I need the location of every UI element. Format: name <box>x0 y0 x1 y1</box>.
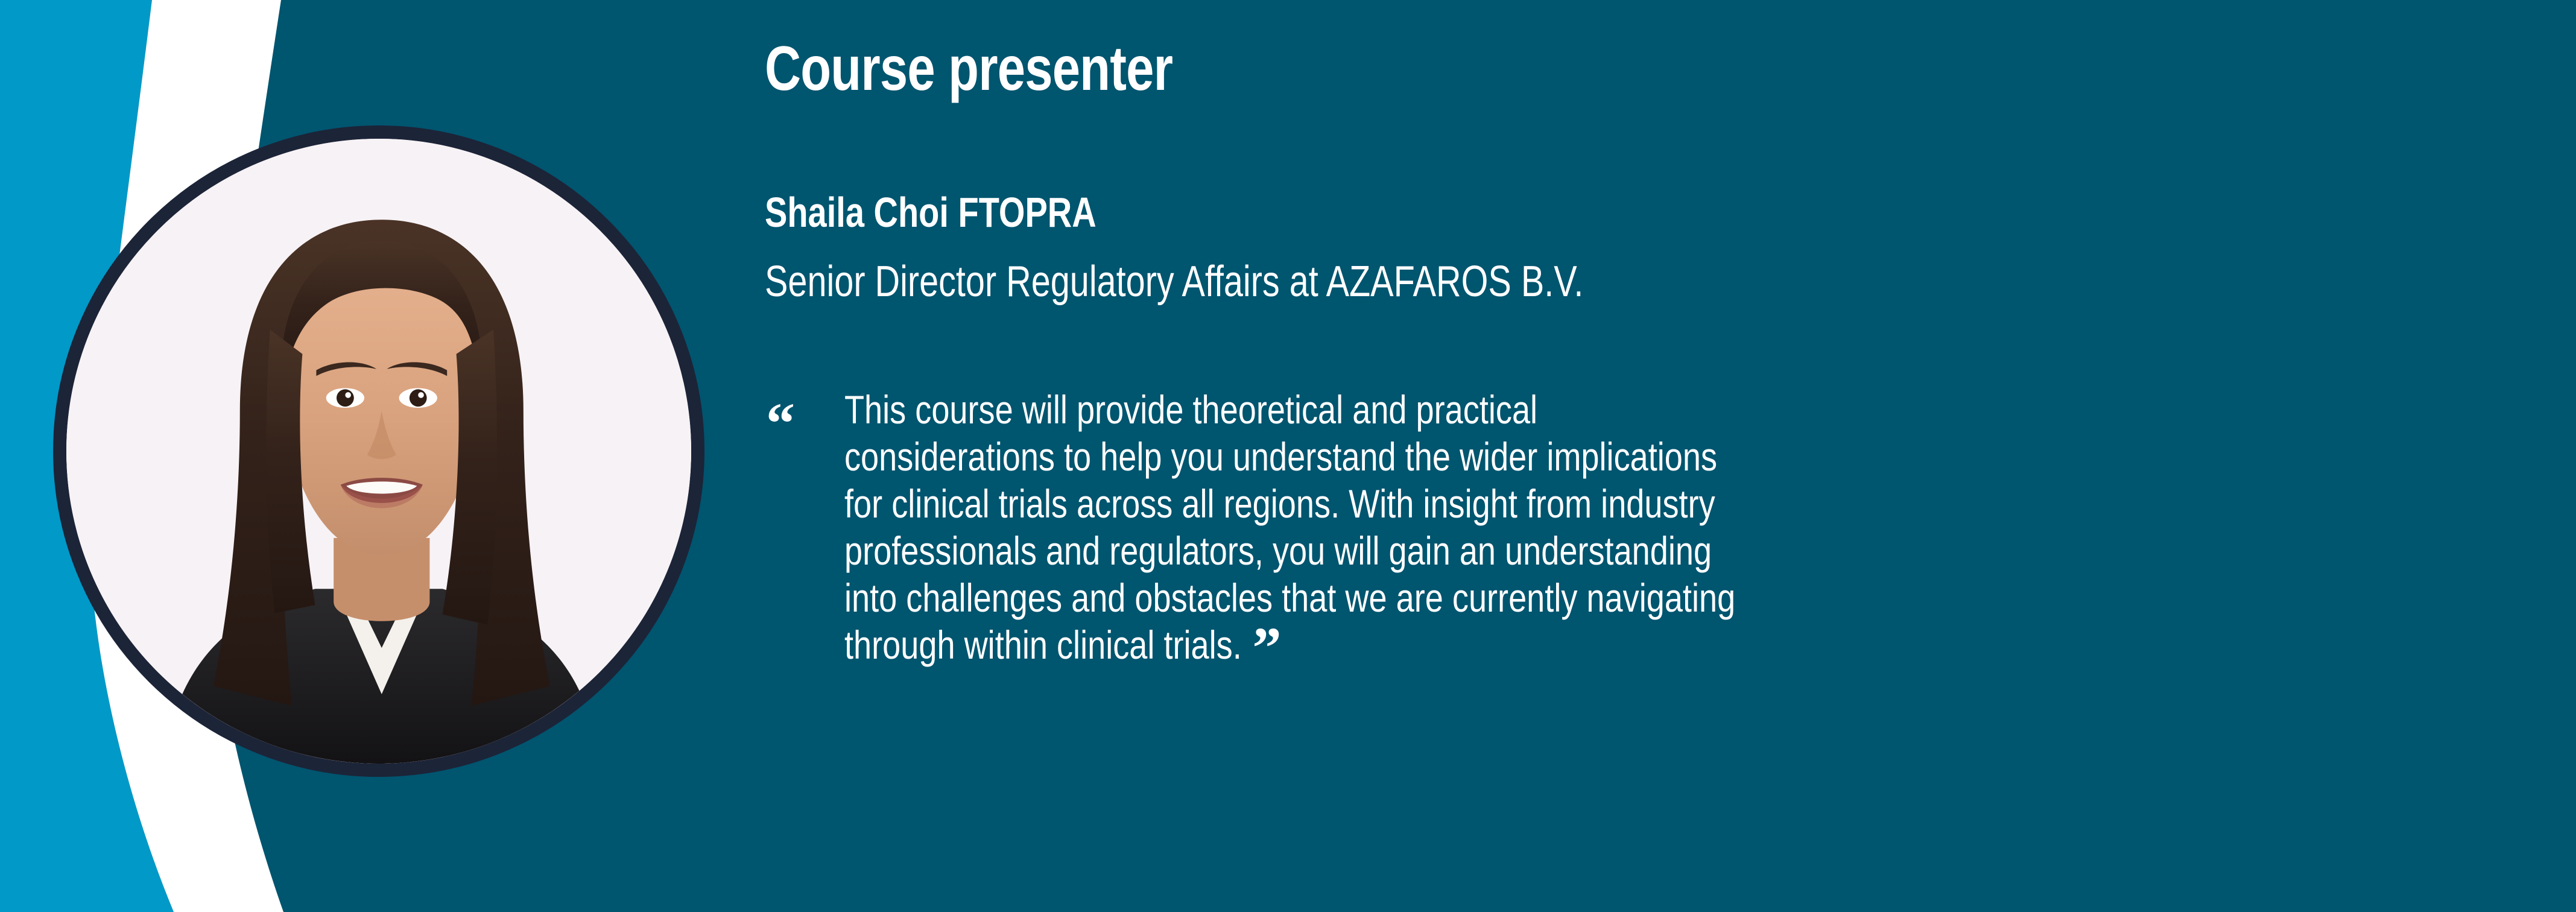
quote-line: professionals and regulators, you will g… <box>844 527 2110 574</box>
quote-text: This course will provide theoretical and… <box>844 386 2388 668</box>
quote-line: This course will provide theoretical and… <box>844 386 2110 433</box>
quote-line-final: through within clinical trials.” <box>844 621 2110 668</box>
quote-line-final-text: through within clinical trials. <box>844 622 1242 667</box>
presenter-photo <box>66 139 691 764</box>
quote-line: for clinical trials across all regions. … <box>844 480 2110 527</box>
presenter-avatar <box>53 125 704 777</box>
presenter-name: Shaila Choi FTOPRA <box>765 191 1097 235</box>
presenter-role: Senior Director Regulatory Affairs at AZ… <box>765 259 1583 305</box>
quote-open-icon: “ <box>766 394 795 452</box>
presenter-text-column: Course presenter Shaila Choi FTOPRA Seni… <box>765 0 2514 912</box>
quote-line: considerations to help you understand th… <box>844 433 2110 480</box>
quote-line: into challenges and obstacles that we ar… <box>844 574 2110 621</box>
course-presenter-banner: Course presenter Shaila Choi FTOPRA Seni… <box>0 0 2576 912</box>
page-title: Course presenter <box>765 36 1172 102</box>
